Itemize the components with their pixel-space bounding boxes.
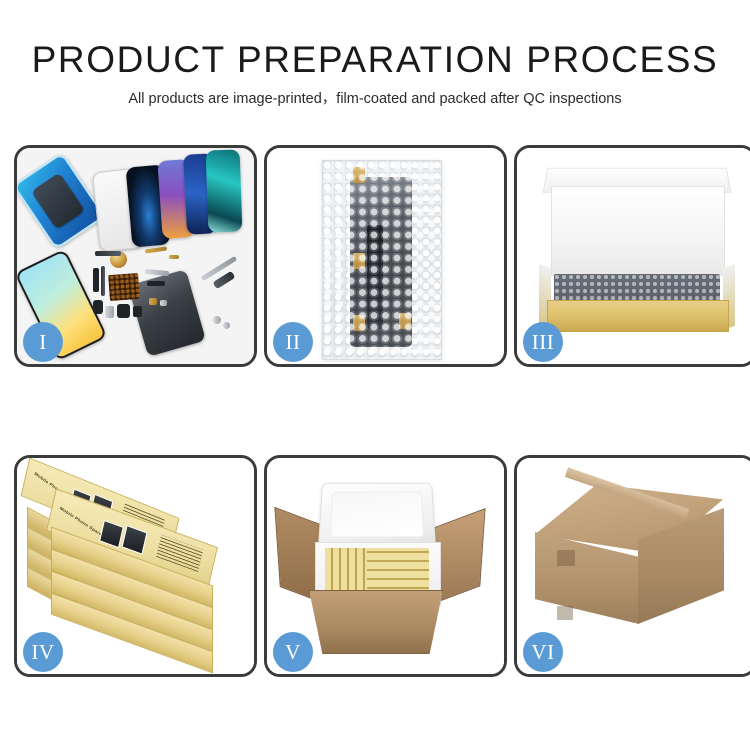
carton-body-icon: [309, 590, 443, 654]
foam-sheet-icon: [551, 186, 725, 276]
packed-boxes-icon: [325, 548, 429, 596]
page-title: PRODUCT PREPARATION PROCESS: [0, 38, 750, 82]
styrofoam-lid-icon: [318, 483, 436, 548]
step-panel-4: Mobile Phone Spare Parts Mobile Phone Sp…: [14, 455, 257, 677]
product-preparation-infographic: PRODUCT PREPARATION PROCESS All products…: [0, 0, 750, 750]
page-subtitle: All products are image-printed，film-coat…: [0, 89, 750, 109]
step-badge-2: II: [273, 322, 313, 362]
step-badge-1: I: [23, 322, 63, 362]
step-badge-3: III: [523, 322, 563, 362]
step-badge-6: VI: [523, 632, 563, 672]
process-steps-grid: I II: [14, 145, 736, 677]
step-panel-5: V: [264, 455, 507, 677]
step-badge-5: V: [273, 632, 313, 672]
bubble-wrap-bag-icon: [322, 160, 442, 360]
chip-grid-icon: [108, 273, 140, 301]
step-panel-3: III: [514, 145, 750, 367]
step-panel-2: II: [264, 145, 507, 367]
step-panel-6: VI: [514, 455, 750, 677]
step-panel-1: I: [14, 145, 257, 367]
header: PRODUCT PREPARATION PROCESS All products…: [0, 38, 750, 109]
step-badge-4: IV: [23, 632, 63, 672]
teal-phone-icon: [206, 149, 243, 232]
kraft-box-front-icon: [547, 300, 729, 332]
